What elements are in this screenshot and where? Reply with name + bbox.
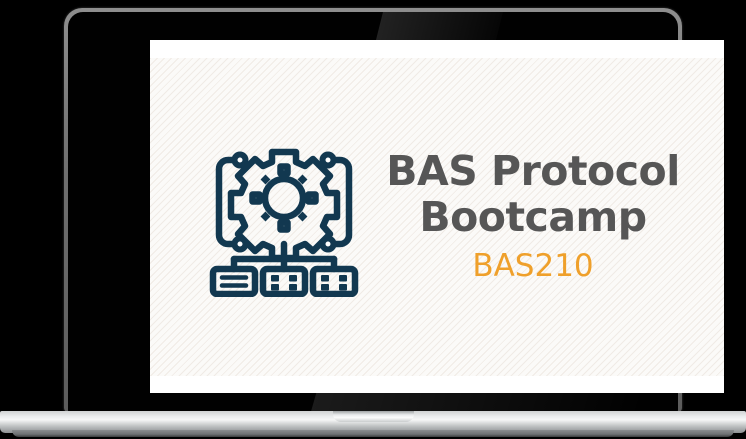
course-title-block: BAS Protocol Bootcamp BAS210 <box>386 151 680 282</box>
course-title-line-2: Bootcamp <box>386 197 680 238</box>
course-title-line-1: BAS Protocol <box>386 151 680 192</box>
laptop-base-notch <box>333 411 414 422</box>
laptop-lid: BAS Protocol Bootcamp BAS210 <box>64 8 682 412</box>
slide-content: BAS Protocol Bootcamp BAS210 <box>150 40 724 393</box>
laptop-screen: BAS Protocol Bootcamp BAS210 <box>150 40 724 393</box>
gear-network-icon <box>208 137 360 297</box>
course-code: BAS210 <box>386 251 680 282</box>
screenshot-stage: BAS Protocol Bootcamp BAS210 <box>0 0 746 439</box>
laptop-base-front-lip <box>12 430 734 437</box>
